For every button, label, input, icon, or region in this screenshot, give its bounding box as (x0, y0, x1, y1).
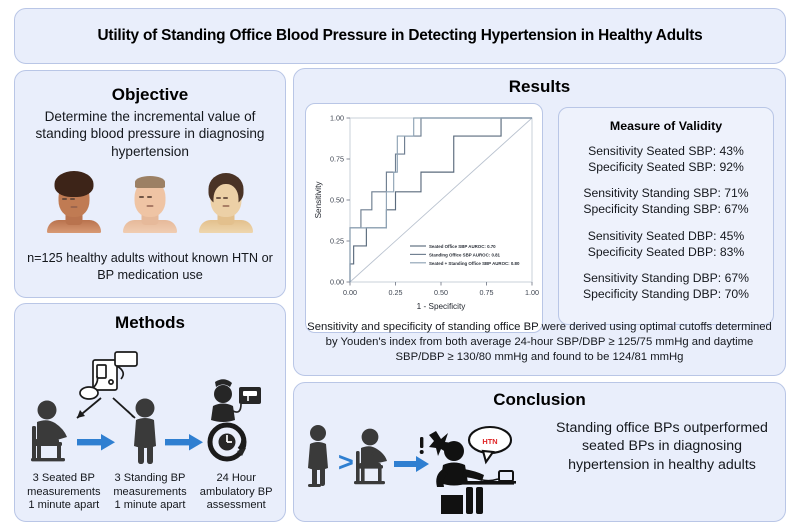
objective-portraits (15, 171, 285, 233)
conclusion-heading: Conclusion (294, 390, 785, 410)
sensitivity-seated-sbp: Sensitivity Seated SBP: 43% (559, 144, 773, 160)
seated-person-icon (31, 401, 67, 462)
specificity-standing-sbp: Specificity Standing SBP: 67% (559, 202, 773, 218)
conclusion-seated-person-icon (354, 429, 387, 485)
methods-step-label-2: 3 Standing BP measurements 1 minute apar… (110, 472, 190, 513)
methods-diagram (15, 338, 285, 468)
y-tick-label: 0.25 (330, 237, 344, 246)
results-heading: Results (294, 77, 785, 97)
validity-group-standing-dbp: Sensitivity Standing DBP: 67% Specificit… (559, 271, 773, 302)
y-axis-label: Sensitivity (314, 181, 323, 219)
y-tick-label: 0.75 (330, 155, 344, 164)
legend-label-1: Standing Office SBP AUROC: 0.81 (429, 253, 501, 258)
roc-chart: 0.000.250.500.751.000.000.250.500.751.00… (305, 103, 543, 333)
sensitivity-standing-sbp: Sensitivity Standing SBP: 71% (559, 186, 773, 202)
methods-arrow-1 (77, 434, 115, 451)
page-title: Utility of Standing Office Blood Pressur… (72, 26, 729, 47)
methods-step-labels: 3 Seated BP measurements 1 minute apart … (15, 472, 285, 513)
results-panel: Results 0.000.250.500.751.000.000.250.50… (293, 68, 786, 376)
conclusion-panel: Conclusion > (293, 382, 786, 522)
objective-heading: Objective (15, 85, 285, 105)
conclusion-standing-person-icon (308, 425, 328, 487)
specificity-seated-sbp: Specificity Seated SBP: 92% (559, 160, 773, 176)
y-tick-label: 0.00 (330, 278, 344, 287)
x-tick-label: 0.50 (434, 288, 448, 297)
x-tick-label: 0.00 (343, 288, 357, 297)
person-portrait-2 (123, 173, 177, 233)
conclusion-diagram: > (302, 415, 540, 517)
conclusion-arrow (394, 456, 429, 472)
methods-arrow-2 (165, 434, 203, 451)
sensitivity-seated-dbp: Sensitivity Seated DBP: 45% (559, 229, 773, 245)
validity-group-seated-sbp: Sensitivity Seated SBP: 43% Specificity … (559, 144, 773, 175)
person-portrait-3 (199, 173, 253, 233)
blood-pressure-monitor-icon (80, 352, 137, 399)
measure-of-validity-panel: Measure of Validity Sensitivity Seated S… (558, 107, 774, 325)
comparator-symbol: > (338, 447, 354, 477)
y-tick-label: 1.00 (330, 114, 344, 123)
sensitivity-standing-dbp: Sensitivity Standing DBP: 67% (559, 271, 773, 287)
objective-body-text: Determine the incremental value of stand… (15, 108, 285, 160)
infographic-root: Utility of Standing Office Blood Pressur… (0, 0, 800, 530)
x-axis-label: 1 - Specificity (417, 302, 467, 311)
ambulatory-monitor-icon (210, 379, 261, 459)
legend-label-0: Seated Office SBP AUROC: 0.70 (429, 244, 496, 249)
methods-panel: Methods (14, 303, 286, 522)
specificity-seated-dbp: Specificity Seated DBP: 83% (559, 245, 773, 261)
y-tick-label: 0.50 (330, 196, 344, 205)
standing-person-icon (134, 399, 156, 465)
roc-chart-svg: 0.000.250.500.751.000.000.250.500.751.00… (306, 104, 544, 334)
objective-sample-note: n=125 healthy adults without known HTN o… (15, 250, 285, 283)
x-tick-label: 0.25 (389, 288, 403, 297)
validity-heading: Measure of Validity (559, 119, 773, 133)
title-panel: Utility of Standing Office Blood Pressur… (14, 8, 786, 64)
legend-label-2: Seated + Standing Office SBP AUROC: 0.80 (429, 261, 520, 266)
htn-badge-text: HTN (482, 437, 497, 446)
htn-badge: HTN (469, 427, 511, 462)
x-tick-label: 1.00 (525, 288, 539, 297)
validity-group-standing-sbp: Sensitivity Standing SBP: 71% Specificit… (559, 186, 773, 217)
methods-branch-arrows (77, 398, 135, 418)
validity-group-seated-dbp: Sensitivity Seated DBP: 45% Specificity … (559, 229, 773, 260)
methods-step-label-1: 3 Seated BP measurements 1 minute apart (24, 472, 104, 513)
conclusion-text: Standing office BPs outperformed seated … (551, 419, 773, 474)
methods-heading: Methods (15, 313, 285, 333)
results-caption: Sensitivity and specificity of standing … (306, 320, 773, 365)
person-portrait-1 (47, 173, 101, 233)
methods-step-label-3: 24 Hour ambulatory BP assessment (196, 472, 276, 513)
objective-panel: Objective Determine the incremental valu… (14, 70, 286, 298)
specificity-standing-dbp: Specificity Standing DBP: 70% (559, 287, 773, 303)
x-tick-label: 0.75 (480, 288, 494, 297)
